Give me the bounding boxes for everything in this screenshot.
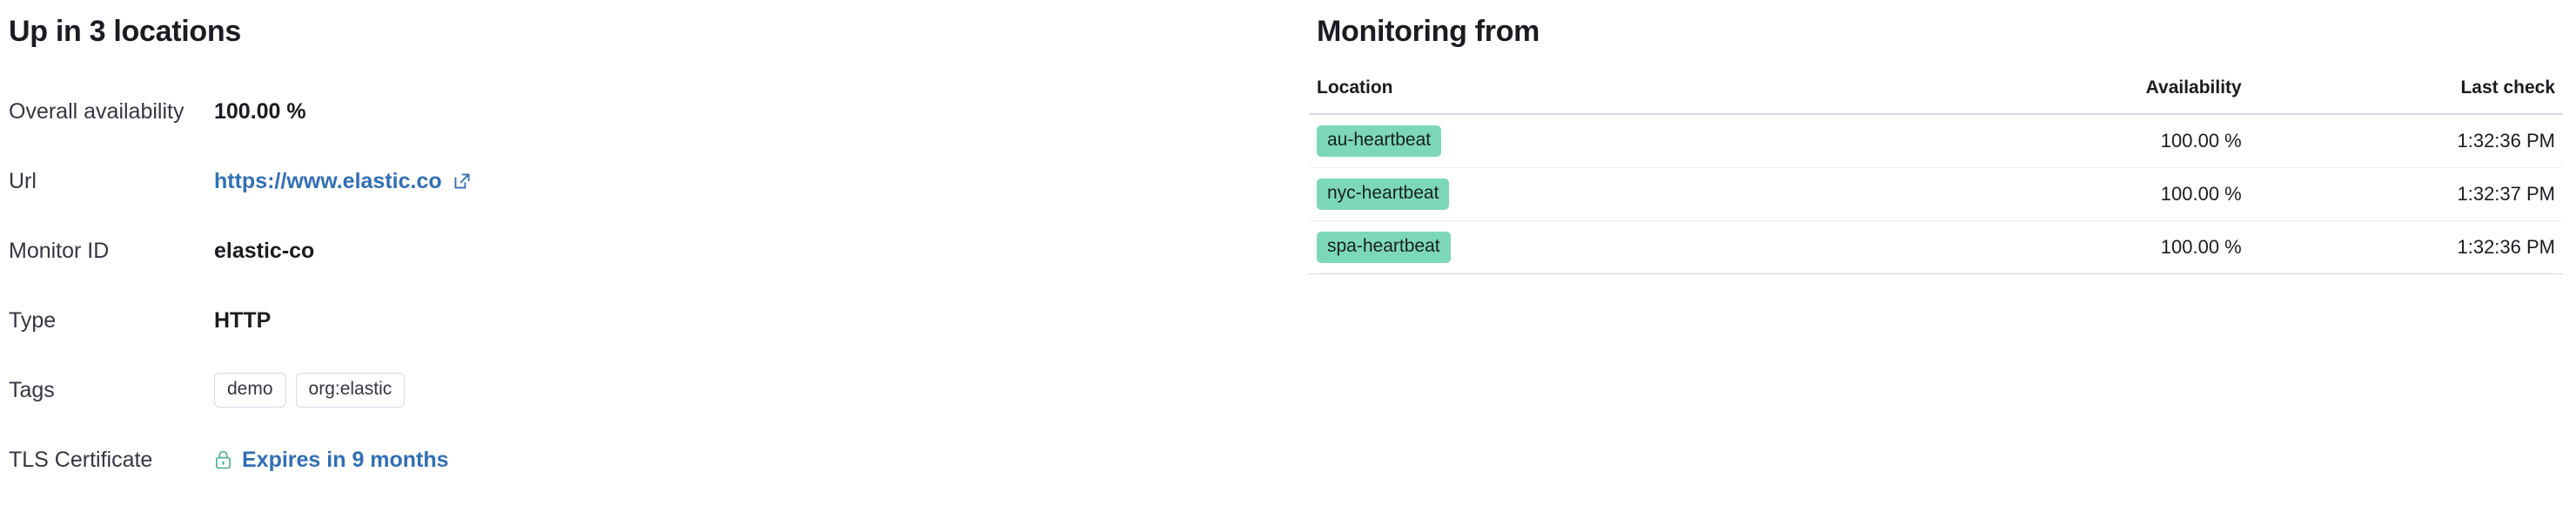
detail-row-tags: Tags demo org:elastic [9, 355, 1297, 425]
column-header-location[interactable]: Location [1309, 77, 1886, 114]
cell-availability: 100.00 % [1886, 168, 2250, 221]
detail-value-url: https://www.elastic.co [214, 168, 1297, 194]
locations-table-head: Location Availability Last check [1309, 77, 2563, 114]
cell-last-check: 1:32:36 PM [2250, 221, 2563, 274]
detail-row-monitor-id: Monitor ID elastic-co [9, 216, 1297, 286]
monitoring-locations-panel: Monitoring from Location Availability La… [1297, 0, 2576, 274]
column-header-last-check[interactable]: Last check [2250, 77, 2563, 114]
tag-pill[interactable]: demo [214, 373, 286, 408]
tag-pill[interactable]: org:elastic [296, 373, 406, 408]
monitor-summary-panel: Up in 3 locations Overall availability 1… [0, 0, 1297, 495]
cell-last-check: 1:32:37 PM [2250, 168, 2563, 221]
monitor-detail-list: Overall availability 100.00 % Url https:… [9, 77, 1297, 495]
page-title: Up in 3 locations [9, 0, 1297, 57]
external-link-icon[interactable] [453, 172, 472, 191]
cell-last-check: 1:32:36 PM [2250, 114, 2563, 168]
table-row[interactable]: au-heartbeat 100.00 % 1:32:36 PM [1309, 114, 2563, 168]
detail-label-url: Url [9, 168, 214, 194]
locations-table-body: au-heartbeat 100.00 % 1:32:36 PM nyc-hea… [1309, 114, 2563, 274]
detail-value-tls-certificate: Expires in 9 months [214, 447, 1297, 473]
column-header-availability[interactable]: Availability [1886, 77, 2250, 114]
detail-label-overall-availability: Overall availability [9, 98, 214, 125]
lock-icon [214, 449, 232, 470]
table-row[interactable]: nyc-heartbeat 100.00 % 1:32:37 PM [1309, 168, 2563, 221]
tag-list: demo org:elastic [214, 373, 405, 408]
table-header-row: Location Availability Last check [1309, 77, 2563, 114]
cell-location: spa-heartbeat [1309, 221, 1886, 274]
detail-label-monitor-id: Monitor ID [9, 238, 214, 264]
cell-location: nyc-heartbeat [1309, 168, 1886, 221]
detail-value-type: HTTP [214, 307, 1297, 334]
detail-value-overall-availability: 100.00 % [214, 98, 1297, 125]
monitoring-from-title: Monitoring from [1309, 0, 2563, 57]
cell-location: au-heartbeat [1309, 114, 1886, 168]
cell-availability: 100.00 % [1886, 221, 2250, 274]
locations-table: Location Availability Last check au-hear… [1309, 77, 2563, 274]
detail-label-type: Type [9, 307, 214, 334]
url-link[interactable]: https://www.elastic.co [214, 168, 442, 194]
detail-value-monitor-id: elastic-co [214, 238, 1297, 264]
location-badge[interactable]: au-heartbeat [1317, 125, 1441, 157]
monitor-detail-page: Up in 3 locations Overall availability 1… [0, 0, 2576, 519]
detail-row-url: Url https://www.elastic.co [9, 146, 1297, 216]
cell-availability: 100.00 % [1886, 114, 2250, 168]
tls-expiry-link[interactable]: Expires in 9 months [242, 447, 449, 473]
detail-row-tls-certificate: TLS Certificate Expires in 9 months [9, 425, 1297, 495]
detail-label-tls-certificate: TLS Certificate [9, 447, 214, 473]
table-row[interactable]: spa-heartbeat 100.00 % 1:32:36 PM [1309, 221, 2563, 274]
detail-row-overall-availability: Overall availability 100.00 % [9, 77, 1297, 146]
location-badge[interactable]: nyc-heartbeat [1317, 179, 1449, 210]
detail-row-type: Type HTTP [9, 286, 1297, 355]
detail-value-tags: demo org:elastic [214, 373, 1297, 408]
location-badge[interactable]: spa-heartbeat [1317, 232, 1451, 263]
detail-label-tags: Tags [9, 377, 214, 403]
